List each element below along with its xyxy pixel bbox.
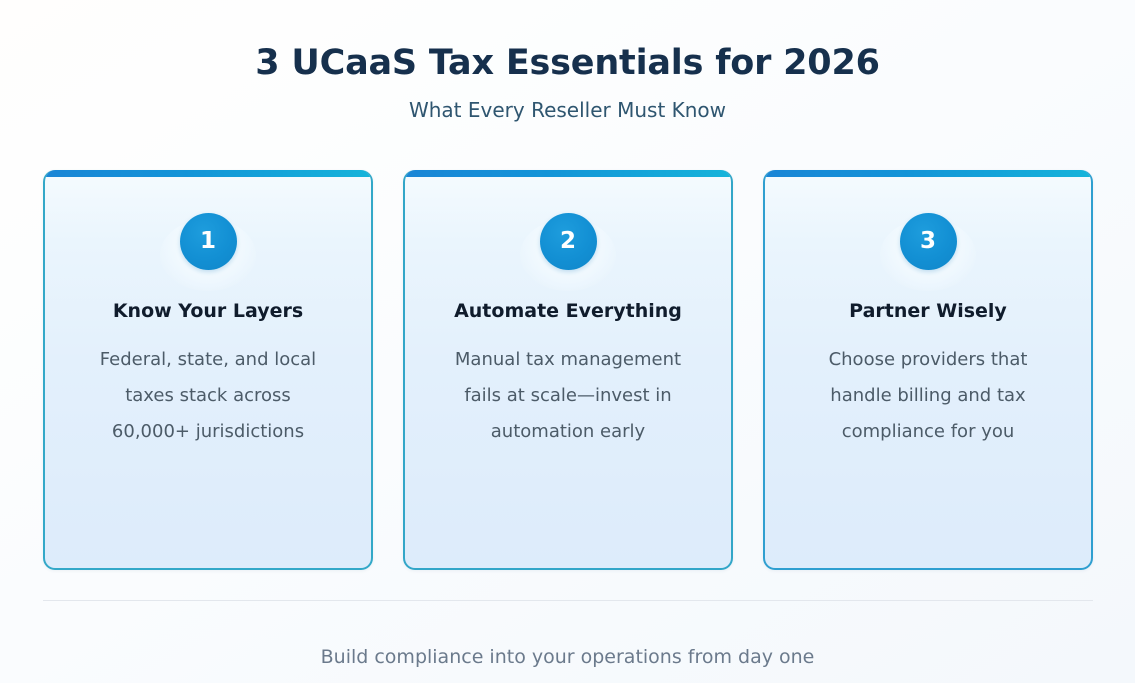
step-number-badge: 1 (180, 213, 237, 270)
cards-row: 1 Know Your Layers Federal, state, and l… (43, 170, 1093, 570)
card-description: Choose providers that handle billing and… (804, 323, 1052, 450)
footer-note: Build compliance into your operations fr… (0, 644, 1135, 670)
card-title: Partner Wisely (849, 270, 1007, 323)
card-description: Manual tax management fails at scale—inv… (444, 323, 692, 450)
card-know-your-layers: 1 Know Your Layers Federal, state, and l… (43, 170, 373, 570)
infographic-canvas: 3 UCaaS Tax Essentials for 2026 What Eve… (0, 0, 1135, 683)
card-content: 3 Partner Wisely Choose providers that h… (765, 170, 1091, 450)
page-title: 3 UCaaS Tax Essentials for 2026 (0, 41, 1135, 85)
card-content: 1 Know Your Layers Federal, state, and l… (45, 170, 371, 450)
card-title: Automate Everything (454, 270, 682, 323)
badge-wrapper: 2 (405, 213, 731, 270)
card-content: 2 Automate Everything Manual tax managem… (405, 170, 731, 450)
card-description: Federal, state, and local taxes stack ac… (84, 323, 332, 450)
card-partner-wisely: 3 Partner Wisely Choose providers that h… (763, 170, 1093, 570)
page-subtitle: What Every Reseller Must Know (0, 85, 1135, 123)
card-automate-everything: 2 Automate Everything Manual tax managem… (403, 170, 733, 570)
step-number-badge: 2 (540, 213, 597, 270)
step-number-badge: 3 (900, 213, 957, 270)
footer-divider (43, 600, 1093, 601)
badge-wrapper: 3 (765, 213, 1091, 270)
header: 3 UCaaS Tax Essentials for 2026 What Eve… (0, 0, 1135, 123)
badge-wrapper: 1 (45, 213, 371, 270)
card-title: Know Your Layers (113, 270, 303, 323)
